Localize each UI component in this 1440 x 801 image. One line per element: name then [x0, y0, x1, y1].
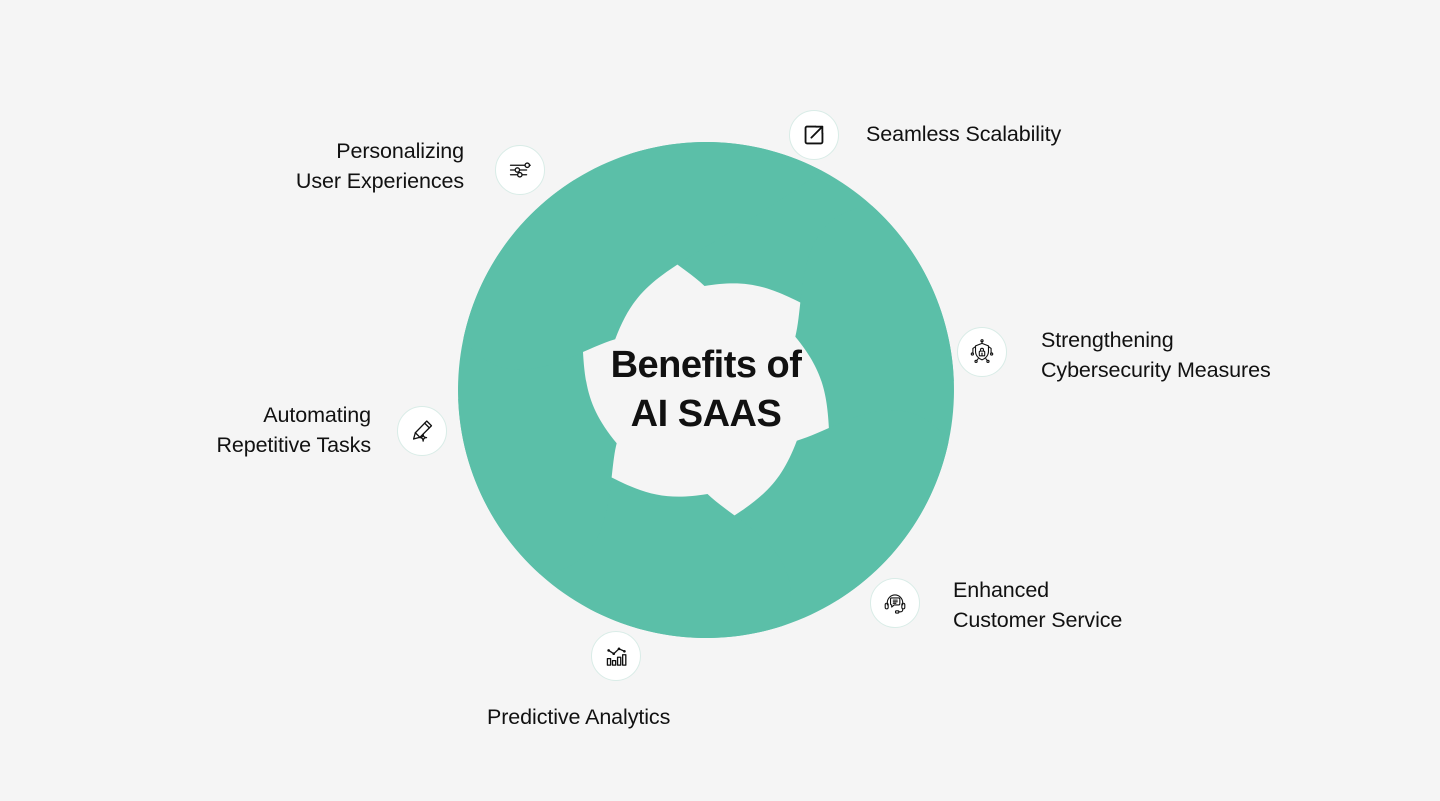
label-line-1: Enhanced	[953, 575, 1122, 605]
node-label-strengthening-cybersecurity-measures: Strengthening Cybersecurity Measures	[1041, 325, 1271, 385]
label-line-1: Automating	[21, 400, 371, 430]
node-label-predictive-analytics: Predictive Analytics	[487, 702, 670, 732]
label-line-1: Personalizing	[114, 136, 464, 166]
node-label-seamless-scalability: Seamless Scalability	[866, 119, 1061, 149]
label-line-1: Strengthening	[1041, 325, 1271, 355]
node-label-enhanced-customer-service: Enhanced Customer Service	[953, 575, 1122, 635]
pinwheel-diagram	[456, 140, 956, 640]
infographic-canvas: Benefits of AI SAAS Seamless Scalability	[0, 0, 1440, 801]
headset-chat-icon[interactable]	[870, 578, 920, 628]
label-line-1: Predictive Analytics	[487, 702, 670, 732]
sliders-icon[interactable]	[495, 145, 545, 195]
blade-group	[367, 51, 1044, 728]
node-label-personalizing-user-experiences: Personalizing User Experiences	[114, 136, 464, 196]
external-link-icon[interactable]	[789, 110, 839, 160]
label-line-2: Cybersecurity Measures	[1041, 355, 1271, 385]
label-line-2: User Experiences	[114, 166, 464, 196]
label-line-2: Repetitive Tasks	[21, 430, 371, 460]
bar-chart-trend-icon[interactable]	[591, 631, 641, 681]
shield-lock-icon[interactable]	[957, 327, 1007, 377]
node-label-automating-repetitive-tasks: Automating Repetitive Tasks	[21, 400, 371, 460]
pencil-sparkle-icon[interactable]	[397, 406, 447, 456]
label-line-2: Customer Service	[953, 605, 1122, 635]
label-line-1: Seamless Scalability	[866, 119, 1061, 149]
